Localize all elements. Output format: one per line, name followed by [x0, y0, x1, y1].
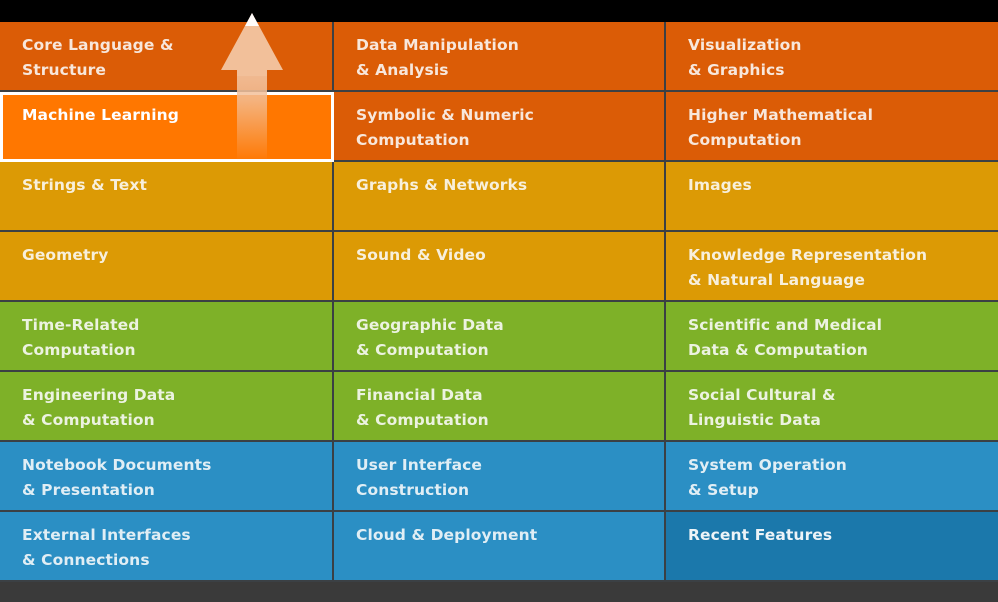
category-tile-label: User Interface Construction: [356, 456, 482, 499]
category-tile[interactable]: System Operation & Setup: [666, 442, 998, 512]
category-tile[interactable]: Cloud & Deployment: [334, 512, 666, 582]
category-tile[interactable]: Visualization & Graphics: [666, 22, 998, 92]
category-tile-label: System Operation & Setup: [688, 456, 847, 499]
category-tile-label: Recent Features: [688, 526, 832, 544]
app-root: Core Language & StructureData Manipulati…: [0, 0, 998, 602]
category-tile[interactable]: Higher Mathematical Computation: [666, 92, 998, 162]
category-tile[interactable]: Symbolic & Numeric Computation: [334, 92, 666, 162]
category-tile-label: External Interfaces & Connections: [22, 526, 191, 569]
category-tile-label: Higher Mathematical Computation: [688, 106, 873, 149]
category-tile-label: Strings & Text: [22, 176, 147, 194]
category-tile-label: Social Cultural & Linguistic Data: [688, 386, 836, 429]
category-tile[interactable]: Engineering Data & Computation: [0, 372, 334, 442]
category-tile-label: Knowledge Representation & Natural Langu…: [688, 246, 927, 289]
category-tile[interactable]: Recent Features: [666, 512, 998, 582]
category-tile-label: Machine Learning: [22, 106, 179, 124]
category-tile-label: Geometry: [22, 246, 109, 264]
category-tile[interactable]: Notebook Documents & Presentation: [0, 442, 334, 512]
category-tile-label: Time-Related Computation: [22, 316, 139, 359]
category-tile-label: Notebook Documents & Presentation: [22, 456, 212, 499]
category-tile[interactable]: Sound & Video: [334, 232, 666, 302]
category-tile-label: Images: [688, 176, 752, 194]
category-tile[interactable]: Social Cultural & Linguistic Data: [666, 372, 998, 442]
title-bar: [0, 0, 998, 22]
category-tile-label: Cloud & Deployment: [356, 526, 537, 544]
category-tile[interactable]: Geographic Data & Computation: [334, 302, 666, 372]
category-tile[interactable]: Time-Related Computation: [0, 302, 334, 372]
category-tile[interactable]: Financial Data & Computation: [334, 372, 666, 442]
category-tile[interactable]: Strings & Text: [0, 162, 334, 232]
category-tile-label: Scientific and Medical Data & Computatio…: [688, 316, 882, 359]
category-tile[interactable]: Machine Learning: [0, 92, 334, 162]
category-tile[interactable]: Graphs & Networks: [334, 162, 666, 232]
category-tile-label: Data Manipulation & Analysis: [356, 36, 519, 79]
category-tile[interactable]: Images: [666, 162, 998, 232]
category-tile-label: Financial Data & Computation: [356, 386, 489, 429]
category-tile-label: Engineering Data & Computation: [22, 386, 175, 429]
category-tile-label: Geographic Data & Computation: [356, 316, 504, 359]
category-tile-label: Visualization & Graphics: [688, 36, 802, 79]
category-tile-label: Graphs & Networks: [356, 176, 527, 194]
category-tile[interactable]: Data Manipulation & Analysis: [334, 22, 666, 92]
category-tile-label: Symbolic & Numeric Computation: [356, 106, 534, 149]
category-tile-label: Sound & Video: [356, 246, 486, 264]
category-tile[interactable]: User Interface Construction: [334, 442, 666, 512]
category-grid: Core Language & StructureData Manipulati…: [0, 22, 998, 602]
category-tile[interactable]: Scientific and Medical Data & Computatio…: [666, 302, 998, 372]
category-tile[interactable]: Knowledge Representation & Natural Langu…: [666, 232, 998, 302]
category-tile-label: Core Language & Structure: [22, 36, 174, 79]
category-tile[interactable]: External Interfaces & Connections: [0, 512, 334, 582]
category-tile[interactable]: Geometry: [0, 232, 334, 302]
category-tile[interactable]: Core Language & Structure: [0, 22, 334, 92]
